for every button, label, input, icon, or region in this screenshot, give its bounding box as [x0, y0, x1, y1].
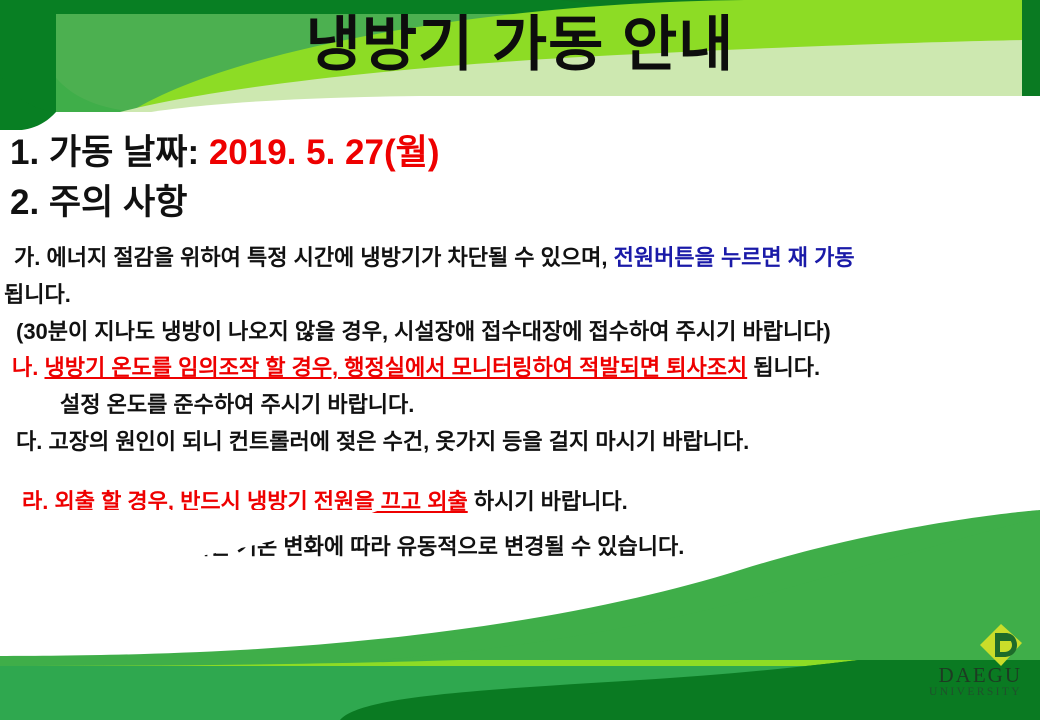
item-ma-text: 냉방기 가동 날짜는 기온 변화에 따라 유동적으로 변경될 수 있습니다. [56, 534, 684, 559]
item-da-line: 다. 고장의 원인이 되니 컨트롤러에 젖은 수건, 옷가지 등을 걸지 마시기… [0, 427, 1040, 457]
item-ra-highlight: 외출 할 경우, 반드시 냉방기 전원을 끄고 외출 [54, 489, 467, 514]
spacer [0, 227, 1040, 243]
item-da-marker: 다. [16, 429, 42, 454]
logo-name: DAEGU [929, 665, 1022, 686]
spacer [0, 516, 1040, 532]
logo-subtitle: UNIVERSITY [929, 687, 1022, 699]
slide-canvas: 냉방기 가동 안내 1. 가동 날짜: 2019. 5. 27(월) 2. 주의… [0, 0, 1040, 720]
item-da-text: 고장의 원인이 되니 컨트롤러에 젖은 수건, 옷가지 등을 걸지 마시기 바랍… [48, 429, 749, 454]
item-ga-text-before: 에너지 절감을 위하여 특정 시간에 냉방기가 차단될 수 있으며, [46, 245, 607, 270]
item-na-line-2: 설정 온도를 준수하여 주시기 바랍니다. [0, 390, 1040, 420]
item-na-highlight: 냉방기 온도를 임의조작 할 경우, 행정실에서 모니터링하여 적발되면 퇴사조… [44, 355, 747, 380]
item-ma-marker: 마. [24, 534, 50, 559]
item-2-line: 2. 주의 사항 [0, 178, 1040, 228]
header-left-tail [0, 74, 56, 130]
spacer [0, 346, 1040, 353]
item-ga-note: (30분이 지나도 냉방이 나오지 않을 경우, 시설장애 접수대장에 접수하여… [0, 317, 1040, 347]
spacer [0, 273, 1040, 280]
item-na-text-after: 됩니다. [753, 355, 820, 380]
item-na-marker: 나. [12, 355, 38, 380]
header-white-sweep [80, 96, 1040, 130]
item-1-date: 2019. 5. 27(월) [209, 133, 440, 172]
item-ra-marker: 라. [22, 489, 48, 514]
logo-emblem-icon [978, 622, 1024, 668]
item-1-label: 1. 가동 날짜: [10, 133, 199, 172]
item-ga-text-after: 됩니다. [4, 282, 71, 307]
item-ra-text-after: 하시기 바랍니다. [474, 489, 628, 514]
item-ga-marker: 가. [14, 245, 40, 270]
item-ga-note-text: (30분이 지나도 냉방이 나오지 않을 경우, 시설장애 접수대장에 접수하여… [16, 319, 831, 344]
item-na-line-1: 나. 냉방기 온도를 임의조작 할 경우, 행정실에서 모니터링하여 적발되면 … [0, 353, 1040, 383]
spacer [0, 420, 1040, 427]
footer-bright-curve [0, 602, 1040, 688]
item-ga-highlight: 전원버튼을 누르면 재 가동 [614, 245, 855, 270]
spacer [0, 383, 1040, 390]
item-ma-line: 마. 냉방기 가동 날짜는 기온 변화에 따라 유동적으로 변경될 수 있습니다… [0, 532, 1040, 562]
item-1-line: 1. 가동 날짜: 2019. 5. 27(월) [0, 128, 1040, 178]
spacer [0, 457, 1040, 487]
spacer [0, 310, 1040, 317]
body-content: 1. 가동 날짜: 2019. 5. 27(월) 2. 주의 사항 가. 에너지… [0, 128, 1040, 562]
daegu-university-logo: DAEGU UNIVERSITY [898, 622, 1028, 702]
item-2-label: 2. 주의 사항 [10, 183, 187, 222]
item-ga-line-2: 됩니다. [0, 280, 1040, 310]
footer-green-band [0, 666, 1040, 720]
page-title: 냉방기 가동 안내 [0, 10, 1040, 81]
logo-wordmark: DAEGU UNIVERSITY [929, 665, 1022, 699]
item-ga-line-1: 가. 에너지 절감을 위하여 특정 시간에 냉방기가 차단될 수 있으며, 전원… [0, 243, 1040, 273]
item-ra-line: 라. 외출 할 경우, 반드시 냉방기 전원을 끄고 외출 하시기 바랍니다. [0, 487, 1040, 517]
item-na-second-line: 설정 온도를 준수하여 주시기 바랍니다. [60, 392, 414, 417]
